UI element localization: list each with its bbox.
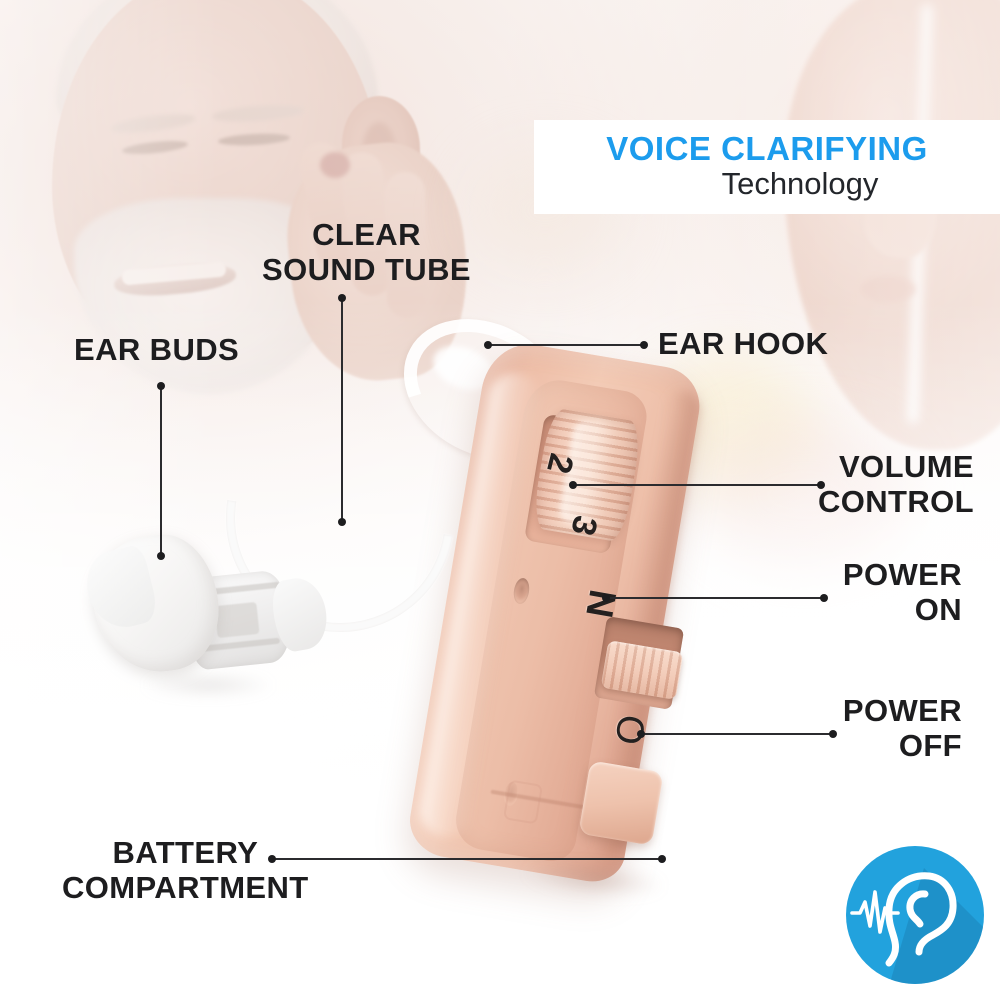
man-hair <box>56 0 378 150</box>
leader-dot-power-on-end <box>820 594 828 602</box>
battery-compartment-tab[interactable] <box>578 760 663 845</box>
callout-label-ear-buds: EAR BUDS <box>74 333 239 368</box>
leader-dot-power-on-start <box>602 594 610 602</box>
ear-bud-shadow <box>116 668 300 702</box>
man-eye-right <box>218 132 290 147</box>
leader-dot-ear-hook-end <box>640 341 648 349</box>
profile-lips <box>860 276 916 302</box>
leader-dot-sound-tube-start <box>338 294 346 302</box>
man-fingernail <box>320 152 350 178</box>
leader-dot-ear-hook-start <box>484 341 492 349</box>
man-brow-left <box>109 111 196 136</box>
profile-rim-light <box>907 4 934 424</box>
callout-label-power-off: POWER OFF <box>843 694 962 763</box>
man-teeth <box>122 261 227 285</box>
leader-dot-power-off-start <box>637 730 645 738</box>
callout-label-clear-sound-tube: CLEAR SOUND TUBE <box>262 218 471 287</box>
side-profile-face <box>712 0 1000 500</box>
man-eye-left <box>122 139 189 157</box>
hearing-aid-device: 2 3 N O <box>398 330 728 890</box>
leader-line-battery <box>272 858 662 860</box>
leader-dot-battery-end <box>658 855 666 863</box>
leader-dot-sound-tube-end <box>338 518 346 526</box>
callout-label-battery-compartment: BATTERY COMPARTMENT <box>62 836 309 905</box>
leader-line-ear-buds <box>160 386 162 556</box>
leader-dot-volume-start <box>569 481 577 489</box>
banner-title: VOICE CLARIFYING <box>606 132 928 166</box>
man-mouth <box>113 259 237 300</box>
ear-bud <box>92 530 322 720</box>
banner-subtitle: Technology <box>722 167 879 200</box>
ear-hearing-logo-badge <box>846 846 984 984</box>
voice-clarifying-banner: VOICE CLARIFYING Technology <box>534 120 1000 214</box>
leader-dot-power-off-end <box>829 730 837 738</box>
man-ear <box>342 96 420 208</box>
infographic-canvas: 2 3 N O EAR B <box>0 0 1000 1000</box>
leader-dot-ear-buds-end <box>157 552 165 560</box>
callout-label-power-on: POWER ON <box>843 558 962 627</box>
profile-face-shape <box>784 0 1000 450</box>
leader-dot-ear-buds-start <box>157 382 165 390</box>
leader-line-power-on <box>606 597 824 599</box>
ear-bud-vent <box>214 602 259 638</box>
device-emboss-mark <box>503 779 543 824</box>
callout-label-ear-hook: EAR HOOK <box>658 327 828 362</box>
leader-line-volume-control <box>573 484 821 486</box>
man-brow-right <box>212 103 305 124</box>
man-head <box>52 0 382 368</box>
leader-line-ear-hook <box>488 344 644 346</box>
ear-icon <box>846 846 984 984</box>
callout-label-volume-control: VOLUME CONTROL <box>818 450 974 519</box>
leader-line-sound-tube <box>341 298 343 522</box>
leader-line-power-off <box>641 733 833 735</box>
